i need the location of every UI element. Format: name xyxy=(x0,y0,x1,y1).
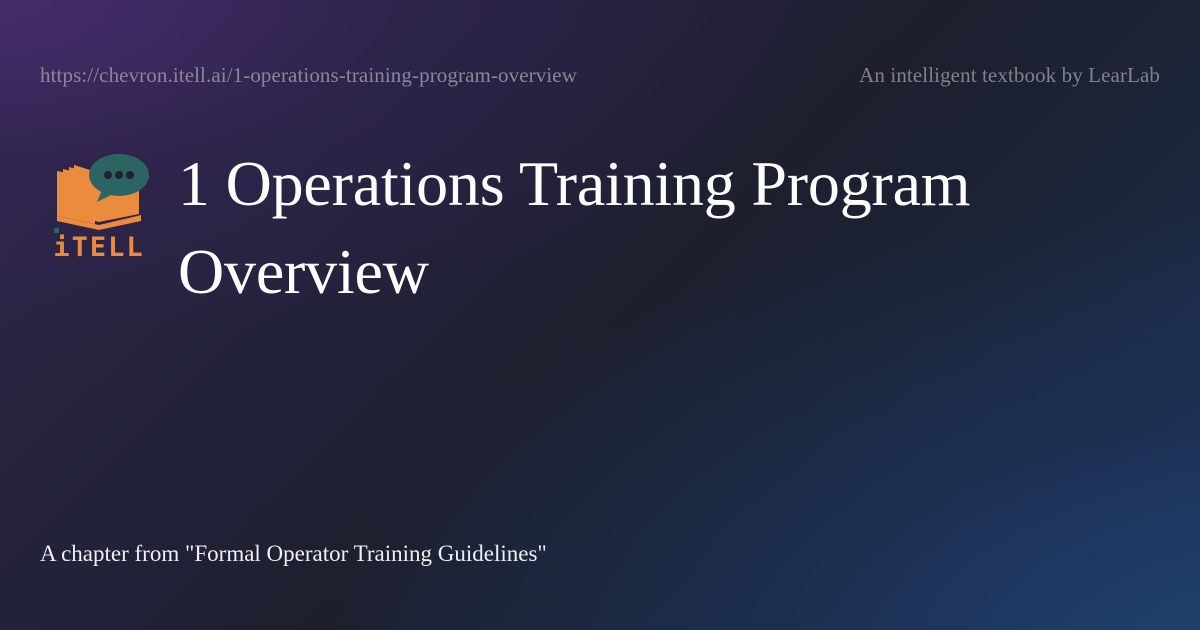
hero-block: iTELL 1 Operations Training Program Over… xyxy=(40,140,1160,316)
bubble-dot-3 xyxy=(126,171,134,179)
itell-wordmark-i: i xyxy=(53,232,71,263)
page-url: https://chevron.itell.ai/1-operations-tr… xyxy=(40,58,577,92)
open-graph-card: https://chevron.itell.ai/1-operations-tr… xyxy=(0,0,1200,630)
card-header: https://chevron.itell.ai/1-operations-tr… xyxy=(40,58,1160,92)
itell-logo-mark xyxy=(47,152,151,230)
itell-wordmark-rest: TELL xyxy=(72,232,145,263)
itell-wordmark: iTELL xyxy=(53,234,144,261)
bubble-dot-2 xyxy=(115,171,123,179)
chapter-source-caption: A chapter from "Formal Operator Training… xyxy=(40,538,547,570)
bubble-dot-1 xyxy=(104,171,112,179)
brand-tagline: An intelligent textbook by LearLab xyxy=(859,58,1160,92)
page-title: 1 Operations Training Program Overview xyxy=(158,140,1058,316)
itell-logo: iTELL xyxy=(40,152,158,261)
